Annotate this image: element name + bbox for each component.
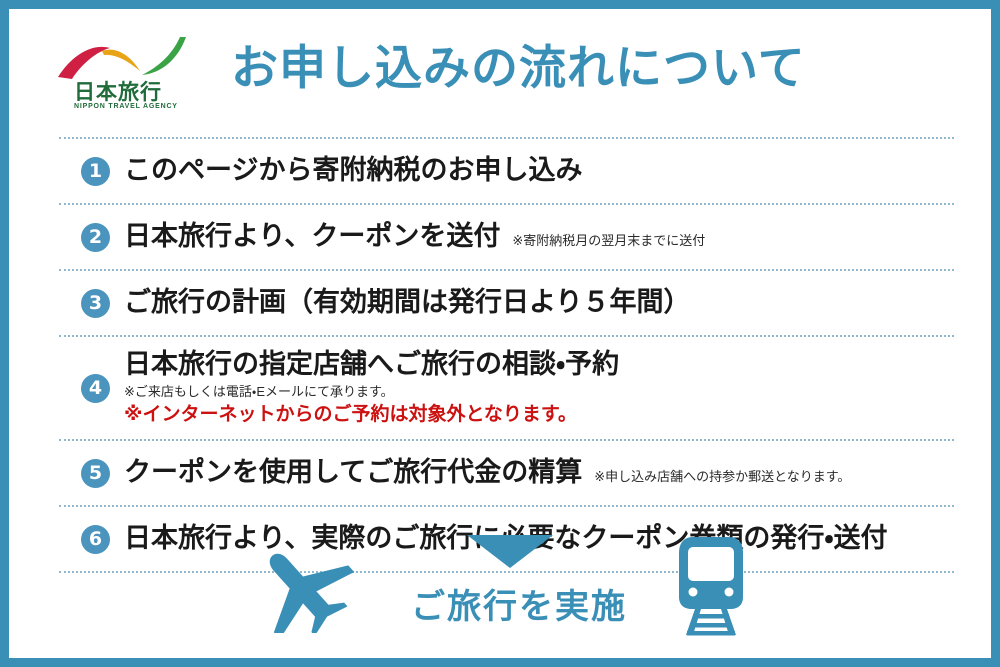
step-main-text: 日本旅行の指定店舗へご旅行の相談・予約 <box>124 348 619 382</box>
train-icon <box>666 535 756 637</box>
footer-caption: ご旅行を実施 <box>394 579 644 628</box>
step-number-badge: 4 <box>81 374 110 403</box>
logo-name-en: NIPPON TRAVEL AGENCY <box>74 103 178 109</box>
step-content: このページから寄附納税のお申し込み <box>124 154 954 188</box>
step-note-text: ※寄附納税月の翌月末までに送付 <box>512 230 705 249</box>
step-content: 日本旅行より、クーポンを送付 ※寄附納税月の翌月末までに送付 <box>124 220 954 254</box>
step-number-badge: 5 <box>81 459 110 488</box>
step-row: 3 ご旅行の計画（有効期間は発行日より５年間） <box>59 269 954 335</box>
step-content: ご旅行の計画（有効期間は発行日より５年間） <box>124 286 954 320</box>
logo-name-ja: 日本旅行 <box>74 80 162 104</box>
logo-svg: 日本旅行 NIPPON TRAVEL AGENCY <box>54 29 199 109</box>
page-footer: ご旅行を実施 <box>9 530 991 650</box>
step-main-text: クーポンを使用してご旅行代金の精算 <box>124 456 582 490</box>
step-warning-text: ※インターネットからのご予約は対象外となります。 <box>124 402 619 428</box>
step-row: 5 クーポンを使用してご旅行代金の精算 ※申し込み店舗への持参か郵送となります。 <box>59 439 954 505</box>
step-main-text: このページから寄附納税のお申し込み <box>124 154 582 188</box>
frame-border-left <box>0 0 9 667</box>
step-number-badge: 2 <box>81 223 110 252</box>
page-header: 日本旅行 NIPPON TRAVEL AGENCY お申し込みの流れについて <box>9 9 991 127</box>
frame-border-top <box>0 0 1000 9</box>
airplane-icon <box>252 538 357 633</box>
step-content: 日本旅行の指定店舗へご旅行の相談・予約 ※ご来店もしくは電話・Eメールにて承りま… <box>124 348 954 428</box>
step-number-badge: 3 <box>81 289 110 318</box>
logo-swoosh-green <box>142 37 186 75</box>
page-title: お申し込みの流れについて <box>231 37 806 98</box>
step-content: クーポンを使用してご旅行代金の精算 ※申し込み店舗への持参か郵送となります。 <box>124 456 954 490</box>
step-text-stack: 日本旅行の指定店舗へご旅行の相談・予約 ※ご来店もしくは電話・Eメールにて承りま… <box>124 348 619 428</box>
infographic-page: 日本旅行 NIPPON TRAVEL AGENCY お申し込みの流れについて 1… <box>0 0 1000 667</box>
step-row: 4 日本旅行の指定店舗へご旅行の相談・予約 ※ご来店もしくは電話・Eメールにて承… <box>59 335 954 439</box>
page-inner: 日本旅行 NIPPON TRAVEL AGENCY お申し込みの流れについて 1… <box>9 9 991 658</box>
frame-border-right <box>991 0 1000 667</box>
step-row: 1 このページから寄附納税のお申し込み <box>59 137 954 203</box>
step-note-text: ※申し込み店舗への持参か郵送となります。 <box>594 466 850 485</box>
arrow-down-icon <box>467 535 553 568</box>
step-main-text: 日本旅行より、クーポンを送付 <box>124 220 500 254</box>
frame-border-bottom <box>0 658 1000 667</box>
step-number-badge: 1 <box>81 157 110 186</box>
steps-list: 1 このページから寄附納税のお申し込み 2 日本旅行より、クーポンを送付 ※寄附… <box>59 137 954 573</box>
step-row: 2 日本旅行より、クーポンを送付 ※寄附納税月の翌月末までに送付 <box>59 203 954 269</box>
step-sub-note-text: ※ご来店もしくは電話・Eメールにて承ります。 <box>124 383 619 401</box>
logo-swoosh-gold <box>102 50 140 71</box>
step-main-text: ご旅行の計画（有効期間は発行日より５年間） <box>124 286 690 320</box>
logo-swoosh-red <box>58 47 110 79</box>
nippon-travel-agency-logo: 日本旅行 NIPPON TRAVEL AGENCY <box>54 29 199 109</box>
